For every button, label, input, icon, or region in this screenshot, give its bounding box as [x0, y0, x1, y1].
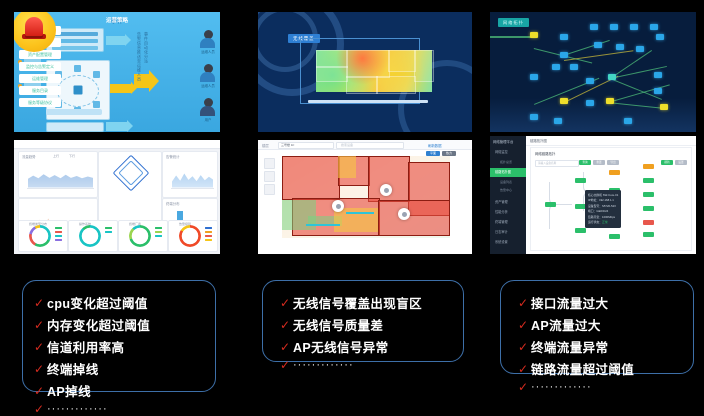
- sidebar-item[interactable]: 系统设置: [490, 238, 526, 247]
- ap-marker[interactable]: [380, 184, 392, 196]
- topology-node[interactable]: [630, 24, 638, 30]
- donut-chart: [179, 225, 201, 247]
- alert-text: 接口流量过大: [531, 293, 608, 312]
- check-icon: ✓: [31, 297, 47, 309]
- ap-marker[interactable]: [332, 200, 344, 212]
- tool-icon[interactable]: [264, 184, 275, 195]
- list-item: ✓ 无线信号覆盖出现盲区: [277, 293, 463, 312]
- avatar: 用户: [200, 98, 216, 122]
- room-segment: [346, 76, 378, 94]
- reset-button[interactable]: 重置: [593, 160, 605, 165]
- tree-node-warning[interactable]: [609, 170, 620, 175]
- slide-canvas: 事件 告警信息推送至运维人员 事件自动化分派 运营策略 故障管理 事件管理 资产…: [0, 0, 704, 400]
- export-button[interactable]: 导出: [607, 160, 619, 165]
- link-line: [306, 224, 340, 226]
- console-tab[interactable]: 链路拓扑图: [530, 138, 547, 143]
- avatar-label: 运维人员: [200, 83, 216, 88]
- console-sidebar: 网络管理平台 网络监控 拓扑总览 链路拓扑图 设备列表 告警中心 资产管理 性能…: [490, 136, 526, 254]
- tooltip-row: 运行状态：正常: [588, 220, 618, 224]
- chart-legend: 上行: [53, 154, 59, 158]
- tree-edge: [549, 204, 572, 229]
- console-tabbar: [526, 136, 696, 146]
- avatar-body: [200, 38, 215, 48]
- list-item: ✓ 终端掉线: [31, 359, 215, 378]
- topology-node[interactable]: [654, 88, 662, 94]
- traffic-alerts-box: ✓ 接口流量过大 ✓ AP流量过大 ✓ 终端流量异常 ✓ 链路流量超过阈值 ✓ …: [500, 280, 694, 374]
- chart-title: 告警统计: [166, 154, 180, 159]
- topology-node[interactable]: [560, 52, 568, 58]
- alert-text: 链路流量超过阈值: [531, 359, 634, 378]
- tree-node[interactable]: [609, 234, 620, 239]
- list-item-ellipsis: ✓ ·············: [277, 359, 463, 371]
- tree-node[interactable]: [575, 178, 586, 183]
- topology-node[interactable]: [608, 74, 616, 80]
- alert-text: cpu变化超过阈值: [47, 293, 148, 312]
- flow-extra-box: [46, 109, 102, 115]
- topology-node[interactable]: [616, 44, 624, 50]
- chart-axis: [171, 188, 214, 189]
- console-panel: 网络管理平台 网络监控 拓扑总览 链路拓扑图 设备列表 告警中心 资产管理 性能…: [490, 136, 696, 254]
- donut-chart: [79, 225, 101, 247]
- coverage-scale-bar: [308, 100, 428, 103]
- alert-text: AP流量过大: [531, 315, 601, 334]
- dashboard-card: 告警统计: [162, 151, 218, 198]
- floorplan-panel: 楼层 三号楼 1F 搜索设备 刷新数据 平面 热力: [258, 140, 472, 254]
- list-item-ellipsis: ✓ ·············: [31, 403, 215, 415]
- alert-list: ✓ cpu变化超过阈值 ✓ 内存变化超过阈值 ✓ 信道利用率高 ✓ 终端掉线 ✓…: [23, 281, 215, 415]
- ellipsis-text: ·············: [531, 381, 592, 393]
- topology-node[interactable]: [654, 72, 662, 78]
- donut-chart: [129, 225, 151, 247]
- query-button[interactable]: 查询: [579, 160, 591, 165]
- topology-node[interactable]: [660, 104, 668, 110]
- flow-vertical-label: 事件自动化分派: [143, 32, 149, 64]
- dashboard-card: 流量趋势 上行 下行: [18, 151, 98, 198]
- avatar-label: 运维人员: [200, 49, 216, 54]
- room-segment: [414, 50, 434, 82]
- tooltip-row: 端口：GE0/0/24: [588, 209, 618, 213]
- room-segment: [346, 50, 390, 78]
- policy-item: 运维管理: [19, 74, 61, 83]
- room-segment: [316, 66, 348, 82]
- chart-title: 流量趋势: [22, 154, 36, 159]
- check-icon: ✓: [277, 341, 293, 353]
- avatar-body: [200, 72, 215, 82]
- sidebar-item[interactable]: 资产管理: [490, 198, 526, 207]
- floor-filter-label: 楼层: [262, 143, 269, 148]
- tree-node[interactable]: [643, 178, 654, 183]
- alert-text: 终端掉线: [47, 359, 99, 378]
- donut-card: 终端厂商: [118, 220, 168, 252]
- topology-node[interactable]: [594, 42, 602, 48]
- coverage-heatmap: [316, 50, 432, 92]
- sidebar-item[interactable]: 拓扑总览: [490, 158, 526, 167]
- node-tooltip: 核心交换机 SW-Core-01 IP地址：192.168.1.1 设备型号：S…: [585, 190, 621, 228]
- check-icon: ✓: [277, 359, 293, 371]
- topology-caption: [490, 120, 696, 132]
- donut-card: 告警级别: [168, 220, 218, 252]
- policy-item: 监控与告警定义: [19, 62, 61, 71]
- sidebar-item[interactable]: 日志审计: [490, 228, 526, 237]
- room-segment: [376, 76, 416, 94]
- list-item: ✓ 接口流量过大: [515, 293, 693, 312]
- topology-node[interactable]: [656, 34, 664, 40]
- floorplan-canvas: [282, 156, 450, 238]
- area-chart: [172, 168, 213, 188]
- refresh-button[interactable]: 刷新数据: [428, 143, 442, 148]
- avatar: 运维人员: [200, 30, 216, 54]
- donut-legend: [105, 227, 112, 235]
- topology-node[interactable]: [606, 98, 614, 104]
- floor-select[interactable]: 三号楼 1F: [278, 142, 334, 149]
- topology-node[interactable]: [590, 24, 598, 30]
- asset-hub-icon: [74, 86, 83, 95]
- alert-text: 无线信号覆盖出现盲区: [293, 293, 422, 312]
- topology-node[interactable]: [560, 34, 568, 40]
- tool-icon[interactable]: [264, 171, 275, 182]
- check-icon: ✓: [515, 381, 531, 393]
- sidebar-item-active[interactable]: 链路拓扑图: [490, 168, 526, 177]
- policy-item: 资产配置管理: [19, 50, 61, 59]
- topology-link: [610, 50, 652, 79]
- sidebar-item[interactable]: 告警中心: [490, 186, 526, 195]
- flow-arrow: [106, 36, 126, 45]
- ellipsis-text: ·············: [293, 359, 354, 371]
- flow-arrow: [110, 84, 132, 93]
- topology-node[interactable]: [552, 64, 560, 70]
- console-page: 网络链路拓扑 请输入设备名称 查询 重置 导出 刷新 设置: [530, 147, 692, 251]
- ellipsis-text: ·············: [47, 403, 108, 415]
- chart-legend: 下行: [69, 154, 75, 158]
- wireless-alerts-box: ✓ 无线信号覆盖出现盲区 ✓ 无线信号质量差 ✓ AP无线信号异常 ✓ ····…: [262, 280, 464, 362]
- chart-title: 终端分布: [166, 201, 180, 206]
- coverage-map-caption: [258, 120, 472, 132]
- alert-list: ✓ 接口流量过大 ✓ AP流量过大 ✓ 终端流量异常 ✓ 链路流量超过阈值 ✓ …: [501, 281, 693, 393]
- donut-card: 终端类型分布: [18, 220, 68, 252]
- coverage-zone: [378, 200, 450, 236]
- sidebar-item[interactable]: 终端管理: [490, 218, 526, 227]
- topology-node[interactable]: [636, 46, 644, 52]
- floorplan-tools[interactable]: [264, 158, 273, 197]
- tree-node[interactable]: [575, 228, 586, 233]
- avatar: 运维人员: [200, 64, 216, 88]
- alert-text: AP掉线: [47, 381, 91, 400]
- alert-text: 信道利用率高: [47, 337, 124, 356]
- list-item: ✓ AP流量过大: [515, 315, 693, 334]
- list-item: ✓ 终端流量异常: [515, 337, 693, 356]
- performance-alerts-box: ✓ cpu变化超过阈值 ✓ 内存变化超过阈值 ✓ 信道利用率高 ✓ 终端掉线 ✓…: [22, 280, 216, 392]
- coverage-zone: [282, 156, 340, 200]
- tooltip-row: 设备型号：S5720-52X: [588, 204, 618, 208]
- donut-chart: [29, 225, 51, 247]
- room-segment: [388, 50, 416, 72]
- search-input[interactable]: 搜索设备: [336, 142, 404, 149]
- alert-text: 内存变化超过阈值: [47, 315, 150, 334]
- page-title: 网络链路拓扑: [535, 151, 555, 156]
- donut-legend: [205, 227, 212, 243]
- coverage-zone: [338, 156, 356, 178]
- topology-node[interactable]: [570, 64, 578, 70]
- donut-legend: [55, 227, 62, 243]
- topology-node[interactable]: [586, 78, 594, 84]
- sidebar-item[interactable]: 性能分析: [490, 208, 526, 217]
- tree-node[interactable]: [643, 192, 654, 197]
- flow-diagram-caption: [14, 120, 220, 132]
- topology-link: [490, 36, 534, 38]
- policy-item: 服务目录: [19, 86, 61, 95]
- check-icon: ✓: [31, 319, 47, 331]
- check-icon: ✓: [515, 363, 531, 375]
- tree-node[interactable]: [643, 206, 654, 211]
- list-item: ✓ 信道利用率高: [31, 337, 215, 356]
- device-icon: [93, 71, 100, 78]
- ap-marker[interactable]: [398, 208, 410, 220]
- check-icon: ✓: [277, 319, 293, 331]
- policy-item: 服务等级协议: [19, 98, 61, 107]
- topology-node[interactable]: [650, 24, 658, 30]
- chart-axis: [27, 188, 94, 189]
- check-icon: ✓: [515, 341, 531, 353]
- topology-node[interactable]: [530, 74, 538, 80]
- tree-node-root[interactable]: [545, 202, 556, 207]
- topology-node[interactable]: [610, 24, 618, 30]
- topology-node[interactable]: [560, 98, 568, 104]
- search-input[interactable]: 请输入设备名称: [535, 160, 579, 167]
- topology-tag: 网络拓扑: [498, 18, 529, 27]
- alert-text: AP无线信号异常: [293, 337, 389, 356]
- tree-node[interactable]: [643, 232, 654, 237]
- tree-node-warning[interactable]: [643, 164, 654, 169]
- dashboard-topbar: [14, 140, 220, 149]
- check-icon: ✓: [515, 319, 531, 331]
- donut-card: 操作系统: [68, 220, 118, 252]
- check-icon: ✓: [515, 297, 531, 309]
- device-icon: [93, 101, 100, 108]
- alert-text: 终端流量异常: [531, 337, 608, 356]
- list-item: ✓ AP掉线: [31, 381, 215, 400]
- donut-legend: [155, 227, 162, 239]
- topology-node[interactable]: [530, 32, 538, 38]
- settings-button[interactable]: 设置: [675, 160, 687, 165]
- list-item: ✓ AP无线信号异常: [277, 337, 463, 356]
- area-chart: [28, 166, 93, 188]
- list-item: ✓ cpu变化超过阈值: [31, 293, 215, 312]
- console-logo: 网络管理平台: [493, 139, 513, 144]
- check-icon: ✓: [31, 341, 47, 353]
- topology-node[interactable]: [586, 100, 594, 106]
- tooltip-title: 核心交换机 SW-Core-01: [588, 193, 618, 197]
- alert-list: ✓ 无线信号覆盖出现盲区 ✓ 无线信号质量差 ✓ AP无线信号异常 ✓ ····…: [263, 281, 463, 371]
- list-item: ✓ 链路流量超过阈值: [515, 359, 693, 378]
- list-item: ✓ 无线信号质量差: [277, 315, 463, 334]
- check-icon: ✓: [31, 385, 47, 397]
- alert-text: 无线信号质量差: [293, 315, 383, 334]
- dashboard-panel: 流量趋势 上行 下行 告警统计 终端分布: [14, 140, 220, 254]
- check-icon: ✓: [31, 363, 47, 375]
- tool-icon[interactable]: [264, 158, 275, 169]
- tooltip-row: IP地址：192.168.1.1: [588, 198, 618, 202]
- list-item-ellipsis: ✓ ·············: [515, 381, 693, 393]
- coverage-map-panel: 无线覆盖: [258, 12, 472, 132]
- check-icon: ✓: [31, 403, 47, 415]
- refresh-button[interactable]: 刷新: [661, 160, 673, 165]
- flow-vertical-label: 告警信息推送至运维人员: [136, 32, 142, 82]
- list-item: ✓ 内存变化超过阈值: [31, 315, 215, 334]
- link-line: [346, 212, 374, 214]
- device-icon: [74, 65, 81, 72]
- tooltip-row: 链路带宽：1000Mbps: [588, 215, 618, 219]
- floorplan-caption: [258, 242, 472, 254]
- tree-node-error[interactable]: [643, 220, 654, 225]
- flow-diagram-panel: 事件 告警信息推送至运维人员 事件自动化分派 运营策略 故障管理 事件管理 资产…: [14, 12, 220, 132]
- avatar-body: [200, 106, 215, 116]
- sidebar-item[interactable]: 网络监控: [490, 148, 526, 157]
- topology-panel: 网络拓扑: [490, 12, 696, 132]
- check-icon: ✓: [277, 297, 293, 309]
- flow-vertical-labels: 告警信息推送至运维人员 事件自动化分派: [136, 32, 150, 128]
